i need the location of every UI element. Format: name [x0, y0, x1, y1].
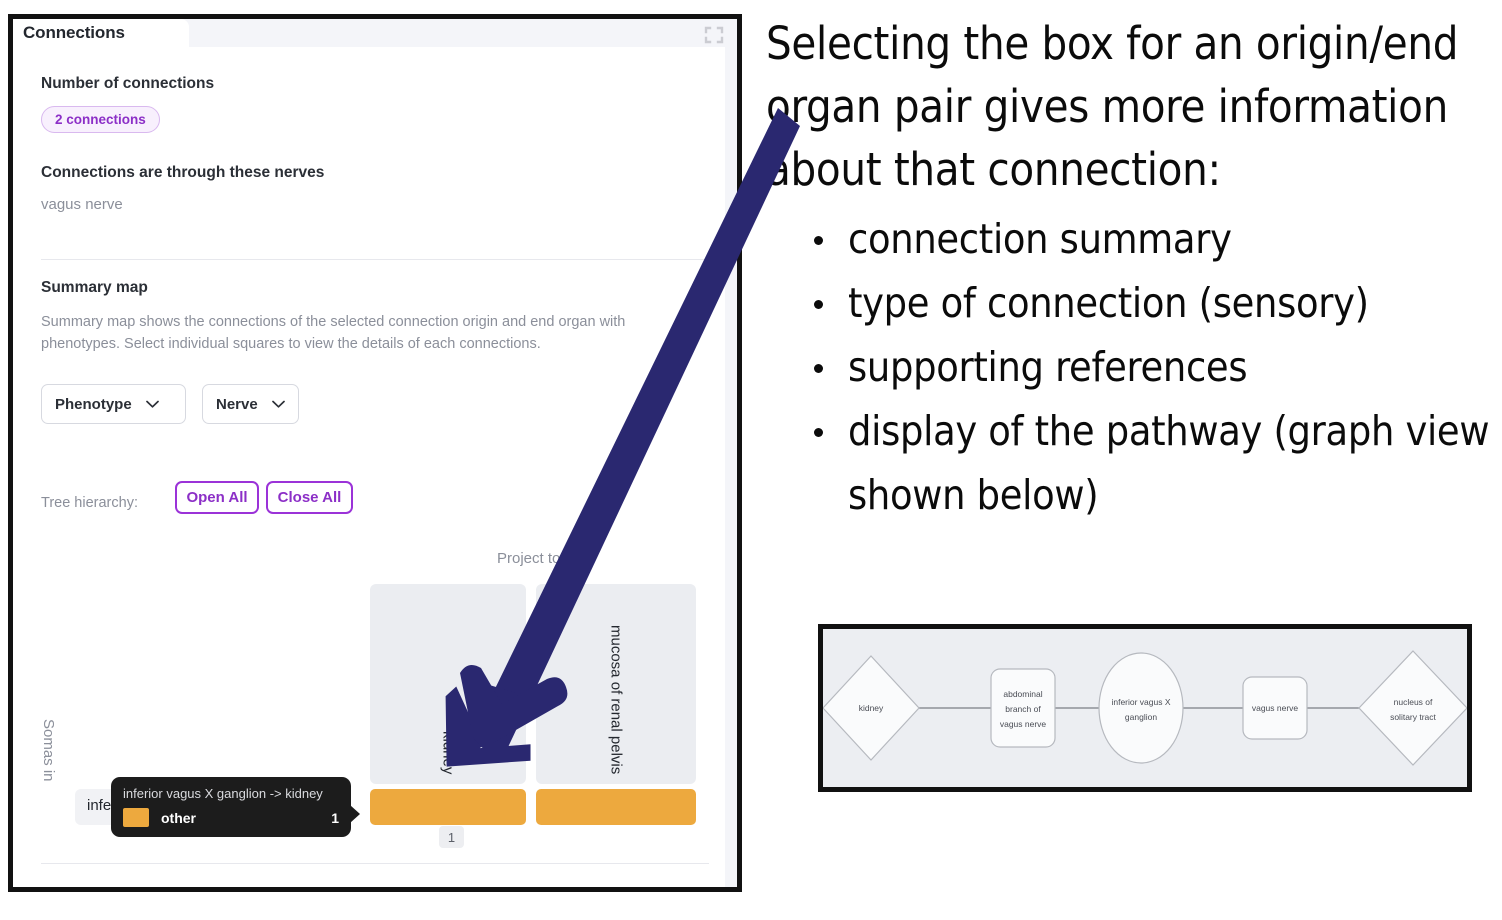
chevron-down-icon: [272, 400, 285, 408]
tooltip-title: inferior vagus X ganglion -> kidney: [123, 786, 339, 801]
close-all-button[interactable]: Close All: [266, 481, 353, 514]
annotation-bullet: connection summary: [766, 207, 1496, 271]
phenotype-filter-dropdown[interactable]: Phenotype: [41, 384, 186, 424]
graph-node-label: kidney: [859, 703, 884, 713]
tab-strip: Connections: [13, 19, 737, 47]
summary-map-description: Summary map shows the connections of the…: [41, 311, 701, 355]
pathway-graph: kidney abdominal branch of vagus nerve i…: [823, 629, 1467, 787]
nerves-value: vagus nerve: [41, 196, 123, 213]
heatmap-cell-count-label: 1: [439, 826, 464, 848]
connections-panel: Connections Number of connections 2 conn…: [8, 14, 742, 892]
tab-connections-label: Connections: [23, 23, 125, 43]
annotation-paragraph: Selecting the box for an origin/end orga…: [766, 12, 1496, 201]
row-header-label: infe: [87, 797, 111, 814]
panel-content: Number of connections 2 connections Conn…: [13, 47, 737, 887]
nerve-filter-label: Nerve: [216, 396, 258, 413]
annotation-bullet: display of the pathway (graph view shown…: [766, 399, 1496, 527]
column-header-kidney[interactable]: kidney: [370, 584, 526, 784]
column-header-label: kidney: [441, 731, 456, 774]
graph-node-nucleus-of-solitary-tract[interactable]: [1359, 651, 1467, 765]
graph-node-label: branch of: [1005, 704, 1041, 714]
graph-node-label: vagus nerve: [1000, 719, 1047, 729]
graph-node-inferior-vagus-x-ganglion[interactable]: [1099, 653, 1183, 763]
project-to-axis-label: Project to: [497, 550, 560, 567]
graph-node-label: abdominal: [1003, 689, 1042, 699]
tree-hierarchy-label: Tree hierarchy:: [41, 495, 138, 511]
phenotype-filter-label: Phenotype: [55, 396, 132, 413]
graph-node-label: solitary tract: [1390, 712, 1436, 722]
graph-node-label: inferior vagus X: [1111, 697, 1170, 707]
number-of-connections-label: Number of connections: [41, 75, 214, 93]
somas-in-axis-label: Somas in: [40, 719, 57, 782]
panel-inner: Connections Number of connections 2 conn…: [13, 19, 737, 887]
nerve-filter-dropdown[interactable]: Nerve: [202, 384, 299, 424]
graph-node-label: vagus nerve: [1252, 703, 1299, 713]
tooltip-row: other 1: [123, 808, 339, 827]
screenshot-stage: Connections Number of connections 2 conn…: [0, 0, 1502, 920]
fullscreen-expand-icon[interactable]: [703, 25, 725, 45]
graph-view-panel: kidney abdominal branch of vagus nerve i…: [818, 624, 1472, 792]
graph-node-label: ganglion: [1125, 712, 1157, 722]
annotation-bullet-list: connection summary type of connection (s…: [766, 207, 1496, 527]
heatmap-tooltip: inferior vagus X ganglion -> kidney othe…: [111, 777, 351, 837]
vertical-scrollbar[interactable]: [725, 47, 737, 887]
connections-count-badge: 2 connections: [41, 106, 160, 133]
tooltip-phenotype: other: [161, 810, 196, 826]
divider-top: [41, 259, 709, 260]
column-header-label: mucosa of renal pelvis: [609, 625, 624, 774]
tooltip-count: 1: [331, 810, 339, 826]
open-all-button[interactable]: Open All: [175, 481, 259, 514]
annotation-notes: Selecting the box for an origin/end orga…: [766, 12, 1496, 527]
chevron-down-icon: [146, 400, 159, 408]
graph-node-label: nucleus of: [1394, 697, 1433, 707]
nerves-header: Connections are through these nerves: [41, 164, 324, 182]
heatmap-cell-kidney[interactable]: [370, 789, 526, 825]
divider-bottom: [41, 863, 709, 864]
column-header-mucosa-of-renal-pelvis[interactable]: mucosa of renal pelvis: [536, 584, 696, 784]
heatmap-cell-mucosa-of-renal-pelvis[interactable]: [536, 789, 696, 825]
annotation-bullet: supporting references: [766, 335, 1496, 399]
annotation-bullet: type of connection (sensory): [766, 271, 1496, 335]
summary-map-header: Summary map: [41, 279, 148, 297]
tooltip-swatch: [123, 808, 149, 827]
